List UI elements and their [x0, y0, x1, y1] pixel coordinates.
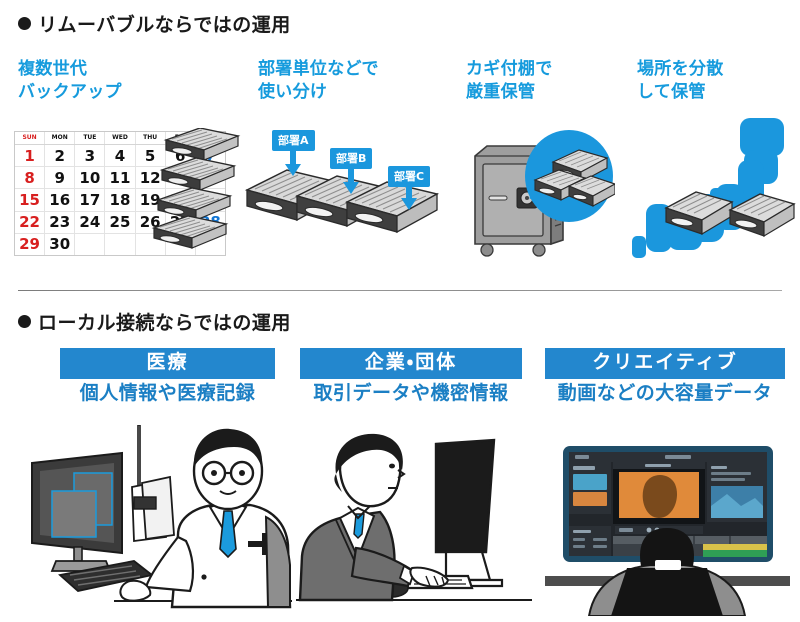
calendar-day: 3: [75, 145, 105, 166]
column-caption-multigeneration-backup: 複数世代 バックアップ: [18, 58, 122, 104]
category-corporate-banner: 企業・団体: [300, 348, 522, 379]
category-creative-banner: クリエイティブ: [545, 348, 785, 379]
calendar-day: [75, 234, 105, 255]
calendar-day: 24: [75, 212, 105, 233]
calendar-day: 15: [15, 189, 45, 210]
calendar-day: 30: [45, 234, 75, 255]
illustration-video-editor-workstation: [545, 440, 790, 616]
calendar-day: 9: [45, 167, 75, 188]
section-heading-local-label: ローカル接続ならではの運用: [38, 308, 291, 335]
illustration-businessman-at-desktop: [296, 430, 532, 612]
calendar-day: [105, 234, 135, 255]
category-medical-subtitle: 個人情報や医療記録: [60, 382, 275, 405]
section-heading-local: ローカル接続ならではの運用: [18, 308, 291, 335]
infographic-page: リムーバブルならではの運用 複数世代 バックアップ 部署単位などで 使い分け カ…: [0, 0, 800, 622]
calendar-day: 23: [45, 212, 75, 233]
calendar-day: 1: [15, 145, 45, 166]
calendar-header-tue: TUE: [75, 132, 105, 144]
column-caption-department-use: 部署単位などで 使い分け: [258, 58, 379, 104]
column-caption-distributed-storage: 場所を分散 して保管: [637, 58, 724, 104]
calendar-day: 25: [105, 212, 135, 233]
calendar-day: 8: [15, 167, 45, 188]
category-creative-subtitle: 動画などの大容量データ: [545, 382, 785, 405]
category-creative: クリエイティブ 動画などの大容量データ: [545, 348, 785, 405]
calendar-header-sun: SUN: [15, 132, 45, 144]
calendar-day: 4: [105, 145, 135, 166]
section-heading-removable: リムーバブルならではの運用: [18, 10, 291, 37]
cartridge-stack-generations: [150, 128, 242, 258]
category-medical-banner: 医療: [60, 348, 275, 379]
calendar-day: 2: [45, 145, 75, 166]
calendar-header-mon: MON: [45, 132, 75, 144]
calendar-day: 11: [105, 167, 135, 188]
bullet-icon: [18, 17, 31, 30]
section-divider: [18, 290, 782, 291]
category-corporate: 企業・団体 取引データや機密情報: [300, 348, 522, 405]
calendar-day: 17: [75, 189, 105, 210]
section-heading-removable-label: リムーバブルならではの運用: [38, 10, 291, 37]
calendar-day: 18: [105, 189, 135, 210]
down-arrow-icon: [401, 184, 417, 210]
illustration-doctor-at-monitor: [14, 425, 292, 615]
calendar-day: 29: [15, 234, 45, 255]
safe-with-cartridges-callout: [465, 118, 615, 268]
calendar-day: 22: [15, 212, 45, 233]
calendar-day: 10: [75, 167, 105, 188]
column-caption-locked-cabinet: カギ付棚で 厳重保管: [466, 58, 553, 104]
japan-map-with-cartridges: [624, 112, 796, 268]
down-arrow-icon: [285, 148, 301, 176]
category-medical: 医療 個人情報や医療記録: [60, 348, 275, 405]
down-arrow-icon: [343, 166, 359, 194]
calendar-header-wed: WED: [105, 132, 135, 144]
calendar-day: 16: [45, 189, 75, 210]
category-corporate-subtitle: 取引データや機密情報: [300, 382, 522, 405]
bullet-icon: [18, 315, 31, 328]
